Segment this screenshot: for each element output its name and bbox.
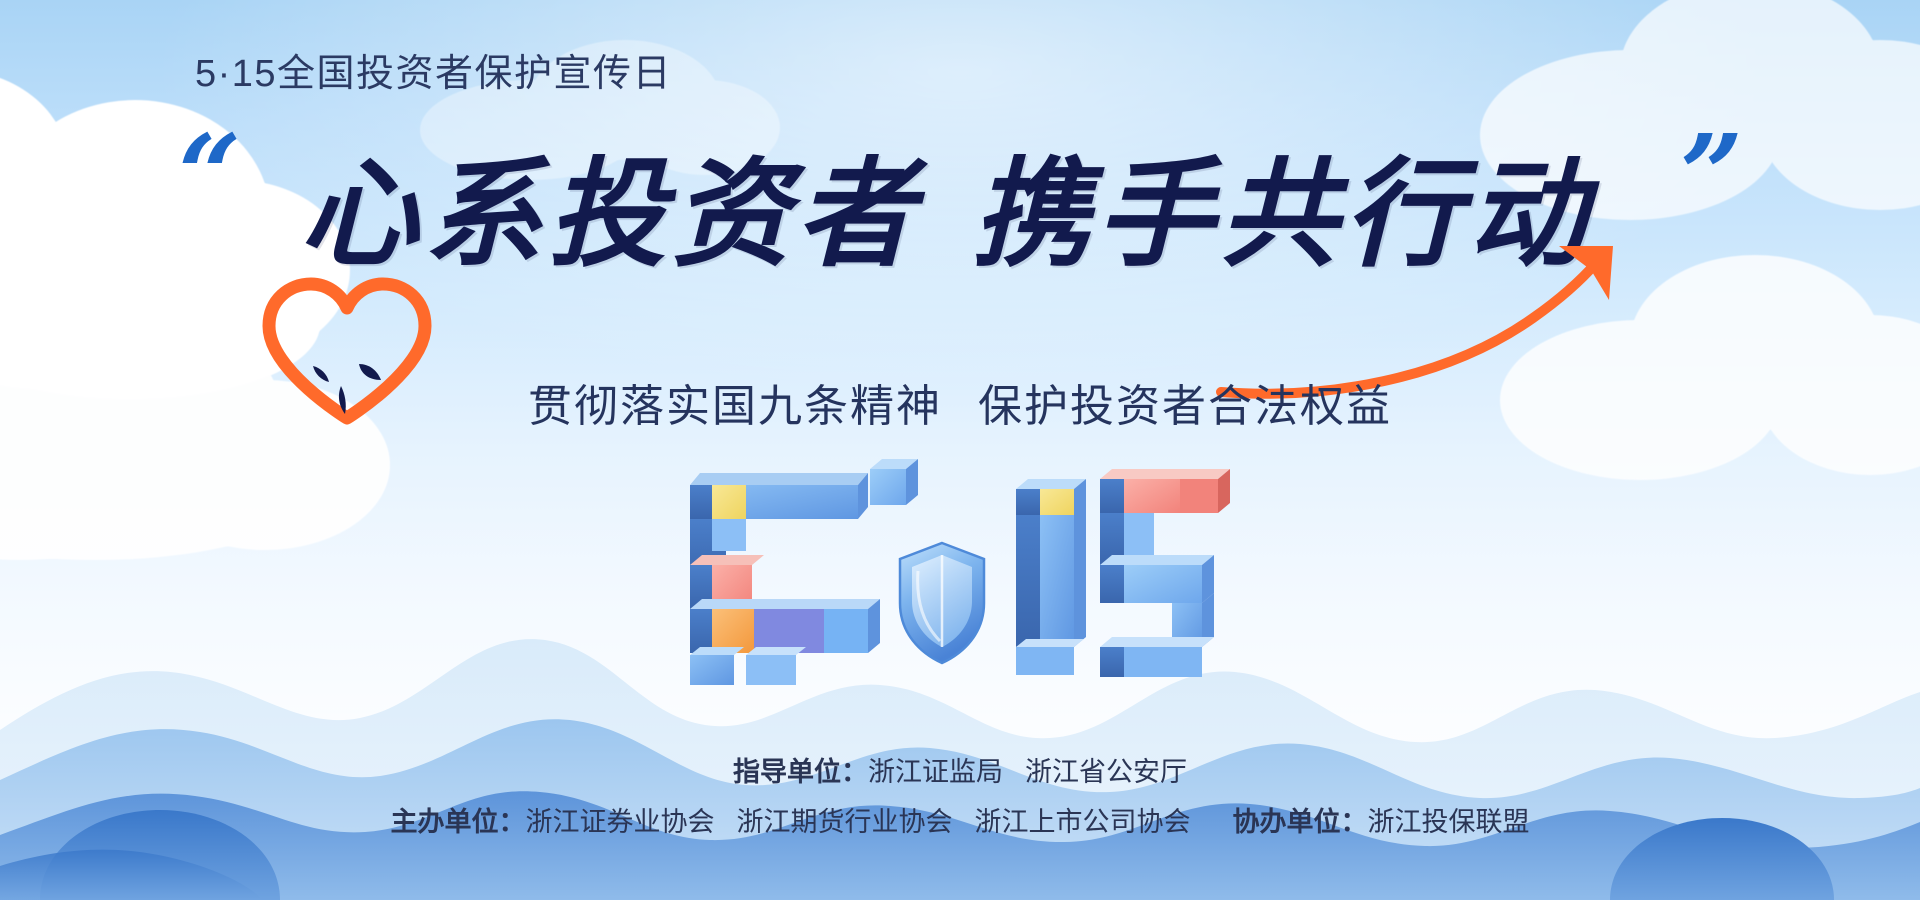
host-unit-name-1: 浙江证券业协会 xyxy=(526,807,715,837)
sponsor-line-organizers: 主办单位：浙江证券业协会浙江期货行业协会浙江上市公司协会协办单位：浙江投保联盟 xyxy=(0,800,1920,839)
headline-segment-2: 携手共行动 xyxy=(972,144,1592,283)
sponsor-line-guidance: 指导单位：浙江证监局浙江省公安厅 xyxy=(0,750,1920,789)
headline-block: “ 心系投资者携手共行动 ” xyxy=(0,110,1920,300)
subtitle-part-1: 贯彻落实国九条精神 xyxy=(528,382,942,431)
guidance-unit-name-1: 浙江证监局 xyxy=(868,757,1003,787)
host-unit-name-3: 浙江上市公司协会 xyxy=(975,807,1191,837)
quote-close-icon: ” xyxy=(1680,120,1743,230)
host-unit-name-2: 浙江期货行业协会 xyxy=(737,807,953,837)
subtitle: 贯彻落实国九条精神保护投资者合法权益 xyxy=(0,370,1920,434)
logo-515 xyxy=(660,455,1260,695)
guidance-unit-name-2: 浙江省公安厅 xyxy=(1025,757,1187,787)
investor-protection-banner: 5·15全国投资者保护宣传日 “ 心系投资者携手共行动 ” 贯彻落实国九条精 xyxy=(0,0,1920,900)
headline-calligraphy: 心系投资者携手共行动 xyxy=(300,118,1700,289)
guidance-unit-label: 指导单位： xyxy=(733,757,868,787)
coorganizer-unit-label: 协办单位： xyxy=(1233,807,1368,837)
quote-open-icon: “ xyxy=(178,120,241,230)
host-unit-label: 主办单位： xyxy=(391,807,526,837)
coorganizer-unit-name-1: 浙江投保联盟 xyxy=(1368,807,1530,837)
page-title: 5·15全国投资者保护宣传日 xyxy=(195,42,672,97)
subtitle-part-2: 保护投资者合法权益 xyxy=(978,382,1392,431)
headline-segment-1: 心系投资者 xyxy=(300,144,920,283)
